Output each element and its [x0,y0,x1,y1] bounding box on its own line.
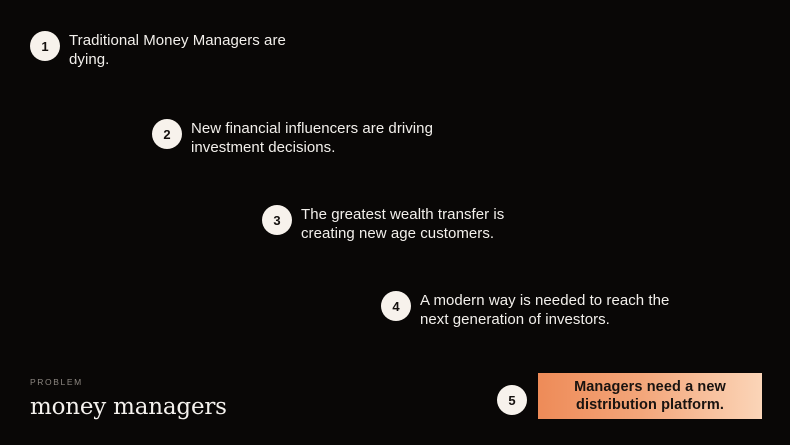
step-number-badge-4: 4 [381,291,411,321]
footer-wordmark: money managers [30,396,227,419]
problem-step-1: 1 Traditional Money Managers are dying. [30,31,329,69]
conclusion-callout-text: Managers need a new distribution platfor… [538,378,762,414]
slide-canvas: 1 Traditional Money Managers are dying. … [0,0,790,445]
slide-footer: PROBLEM money managers [30,377,227,419]
step-number-badge-3: 3 [262,205,292,235]
footer-eyebrow-label: PROBLEM [30,377,227,387]
step-text-1: Traditional Money Managers are dying. [69,31,329,69]
step-number-badge-1: 1 [30,31,60,61]
step-text-4: A modern way is needed to reach the next… [420,291,680,329]
step-number-badge-2: 2 [152,119,182,149]
step-text-2: New financial influencers are driving in… [191,119,451,157]
conclusion-callout-box: Managers need a new distribution platfor… [538,373,762,419]
problem-step-3: 3 The greatest wealth transfer is creati… [262,205,561,243]
problem-step-5-highlight: 5 Managers need a new distribution platf… [497,373,762,419]
problem-step-4: 4 A modern way is needed to reach the ne… [381,291,680,329]
step-number-badge-5: 5 [497,385,527,415]
problem-step-2: 2 New financial influencers are driving … [152,119,451,157]
step-text-3: The greatest wealth transfer is creating… [301,205,561,243]
